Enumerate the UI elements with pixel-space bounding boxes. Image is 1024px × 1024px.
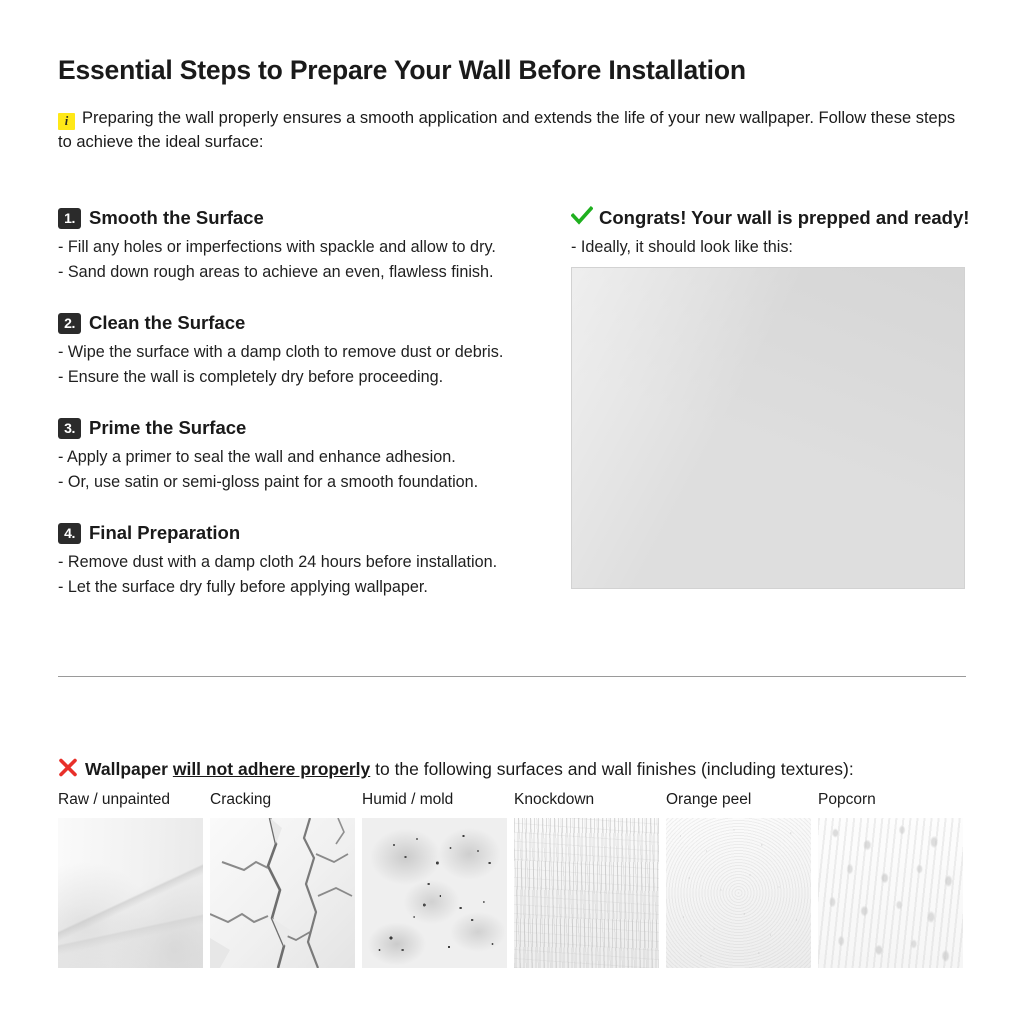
step-item: 3.Prime the Surface - Apply a primer to … bbox=[58, 416, 548, 494]
intro-paragraph: iPreparing the wall properly ensures a s… bbox=[58, 106, 973, 154]
step-item: 4.Final Preparation - Remove dust with a… bbox=[58, 521, 548, 599]
warning-heading: Wallpaper will not adhere properly to th… bbox=[58, 757, 978, 781]
step-bullet: - Apply a primer to seal the wall and en… bbox=[58, 445, 548, 470]
bad-surface-item: Humid / mold bbox=[362, 790, 507, 968]
success-heading-text: Congrats! Your wall is prepped and ready… bbox=[599, 207, 969, 228]
step-bullet: - Let the surface dry fully before apply… bbox=[58, 575, 548, 600]
step-bullet: - Ensure the wall is completely dry befo… bbox=[58, 365, 548, 390]
success-heading: Congrats! Your wall is prepped and ready… bbox=[571, 206, 971, 230]
step-item: 2.Clean the Surface - Wipe the surface w… bbox=[58, 311, 548, 389]
bad-surface-thumbnail-cracking bbox=[210, 818, 355, 968]
success-caption: - Ideally, it should look like this: bbox=[571, 235, 971, 260]
step-heading-text: Clean the Surface bbox=[89, 312, 245, 333]
step-number-badge: 1. bbox=[58, 208, 81, 229]
warning-emphasis: will not adhere properly bbox=[173, 759, 370, 779]
step-heading: 4.Final Preparation bbox=[58, 521, 548, 545]
intro-text: Preparing the wall properly ensures a sm… bbox=[58, 109, 955, 151]
bad-surface-thumbnail-humid-mold bbox=[362, 818, 507, 968]
bad-surface-item: Orange peel bbox=[666, 790, 811, 968]
section-divider bbox=[58, 676, 966, 677]
bad-surface-label: Raw / unpainted bbox=[58, 790, 203, 810]
step-bullet: - Fill any holes or imperfections with s… bbox=[58, 235, 548, 260]
step-number-badge: 2. bbox=[58, 313, 81, 334]
step-heading-text: Prime the Surface bbox=[89, 417, 246, 438]
bad-surface-thumbnail-orange-peel bbox=[666, 818, 811, 968]
step-heading: 1.Smooth the Surface bbox=[58, 206, 548, 230]
bad-surface-label: Popcorn bbox=[818, 790, 963, 810]
step-number-badge: 3. bbox=[58, 418, 81, 439]
bad-surface-item: Popcorn bbox=[818, 790, 963, 968]
bad-surface-item: Knockdown bbox=[514, 790, 659, 968]
bad-surface-thumbnail-raw-unpainted bbox=[58, 818, 203, 968]
step-bullet: - Remove dust with a damp cloth 24 hours… bbox=[58, 550, 548, 575]
step-heading: 2.Clean the Surface bbox=[58, 311, 548, 335]
page-title: Essential Steps to Prepare Your Wall Bef… bbox=[58, 55, 978, 87]
warning-text-before: Wallpaper bbox=[85, 759, 173, 779]
step-heading: 3.Prime the Surface bbox=[58, 416, 548, 440]
bad-surface-item: Raw / unpainted bbox=[58, 790, 203, 968]
cross-mark-icon bbox=[58, 758, 78, 777]
step-bullet: - Sand down rough areas to achieve an ev… bbox=[58, 260, 548, 285]
step-heading-text: Smooth the Surface bbox=[89, 207, 264, 228]
prepped-wall-preview-image bbox=[571, 267, 965, 589]
bad-surface-label: Orange peel bbox=[666, 790, 811, 810]
info-icon: i bbox=[58, 113, 75, 130]
bad-surface-label: Humid / mold bbox=[362, 790, 507, 810]
step-item: 1.Smooth the Surface - Fill any holes or… bbox=[58, 206, 548, 284]
step-bullet: - Wipe the surface with a damp cloth to … bbox=[58, 340, 548, 365]
check-mark-icon bbox=[571, 206, 593, 225]
step-bullet: - Or, use satin or semi-gloss paint for … bbox=[58, 470, 548, 495]
wall-prep-guide-page: Essential Steps to Prepare Your Wall Bef… bbox=[0, 0, 1024, 1024]
steps-column: 1.Smooth the Surface - Fill any holes or… bbox=[58, 206, 548, 599]
step-number-badge: 4. bbox=[58, 523, 81, 544]
bad-surface-label: Knockdown bbox=[514, 790, 659, 810]
success-column: Congrats! Your wall is prepped and ready… bbox=[571, 206, 971, 260]
bad-surface-thumbnail-knockdown bbox=[514, 818, 659, 968]
bad-surface-thumbnail-popcorn bbox=[818, 818, 963, 968]
step-heading-text: Final Preparation bbox=[89, 522, 240, 543]
bad-surface-item: Cracking bbox=[210, 790, 355, 968]
warning-text-after: to the following surfaces and wall finis… bbox=[370, 759, 853, 779]
bad-surface-label: Cracking bbox=[210, 790, 355, 810]
